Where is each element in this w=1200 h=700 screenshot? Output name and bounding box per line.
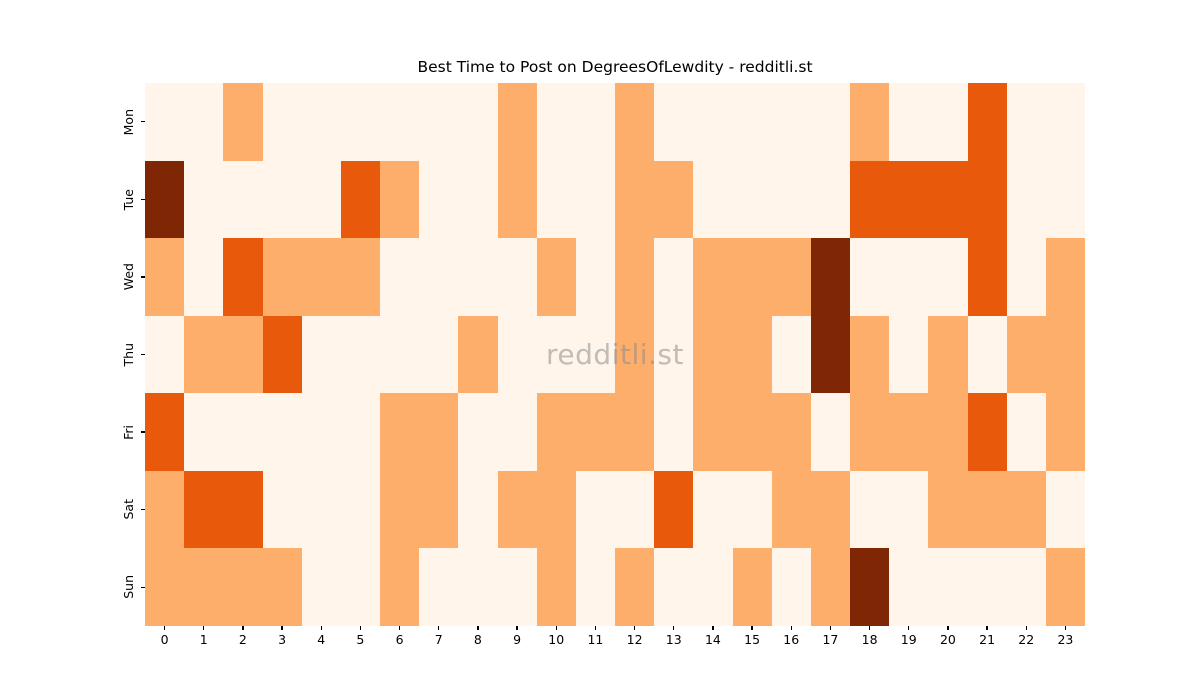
heatmap-cell (458, 83, 497, 161)
heatmap-cell (380, 548, 419, 626)
x-tick-1: 1 (184, 626, 223, 647)
heatmap-cell (458, 471, 497, 549)
heatmap-cell (654, 161, 693, 239)
x-tick-mark (556, 626, 557, 630)
heatmap-cell (733, 471, 772, 549)
heatmap-cell (145, 83, 184, 161)
heatmap-cell (263, 471, 302, 549)
heatmap-cell (223, 238, 262, 316)
heatmap-cell (811, 316, 850, 394)
y-tick-sat: Sat (0, 471, 145, 549)
heatmap-cell (537, 548, 576, 626)
x-tick-14: 14 (693, 626, 732, 647)
heatmap-cell (419, 161, 458, 239)
x-tick-label: 4 (317, 634, 325, 647)
heatmap-cell (850, 393, 889, 471)
heatmap-cell (341, 393, 380, 471)
heatmap-cell (1046, 393, 1085, 471)
heatmap-cell (1046, 238, 1085, 316)
heatmap-cell (145, 393, 184, 471)
heatmap-cell (850, 548, 889, 626)
x-tick-label: 17 (822, 634, 838, 647)
heatmap-cell (498, 548, 537, 626)
heatmap-cell (693, 316, 732, 394)
x-tick-label: 23 (1057, 634, 1073, 647)
heatmap-cell (1046, 548, 1085, 626)
heatmap-cell (576, 548, 615, 626)
x-tick-mark (164, 626, 165, 630)
x-tick-22: 22 (1007, 626, 1046, 647)
heatmap-cell (458, 393, 497, 471)
heatmap-cell (850, 161, 889, 239)
x-tick-10: 10 (537, 626, 576, 647)
x-tick-label: 10 (548, 634, 564, 647)
heatmap-cell (223, 83, 262, 161)
x-tick-mark (477, 626, 478, 630)
heatmap-cell (380, 161, 419, 239)
heatmap-cell (968, 548, 1007, 626)
x-tick-label: 1 (200, 634, 208, 647)
x-tick-17: 17 (811, 626, 850, 647)
x-tick-5: 5 (341, 626, 380, 647)
heatmap-cell (302, 238, 341, 316)
heatmap-cell (615, 548, 654, 626)
x-tick-6: 6 (380, 626, 419, 647)
heatmap-cell (772, 316, 811, 394)
heatmap-cell (850, 238, 889, 316)
heatmap-cell (537, 83, 576, 161)
heatmap-cell (693, 161, 732, 239)
heatmap-cell (968, 238, 1007, 316)
heatmap-cell (1007, 548, 1046, 626)
heatmap-cell (302, 161, 341, 239)
heatmap-cell (458, 161, 497, 239)
heatmap-cell (1007, 393, 1046, 471)
heatmap-cell (928, 83, 967, 161)
heatmap-cell (223, 548, 262, 626)
heatmap-cell (733, 393, 772, 471)
x-tick-mark (1026, 626, 1027, 630)
heatmap-cell (1046, 316, 1085, 394)
heatmap-cell (458, 238, 497, 316)
x-tick-mark (438, 626, 439, 630)
x-tick-label: 7 (435, 634, 443, 647)
x-tick-label: 6 (396, 634, 404, 647)
heatmap-cell (615, 471, 654, 549)
x-tick-label: 11 (587, 634, 603, 647)
x-tick-15: 15 (733, 626, 772, 647)
page-title: Best Time to Post on DegreesOfLewdity - … (145, 58, 1085, 76)
heatmap-cell (341, 161, 380, 239)
heatmap-cell (968, 83, 1007, 161)
x-tick-mark (791, 626, 792, 630)
y-tick-label: Fri (123, 425, 136, 440)
heatmap-cell (498, 316, 537, 394)
heatmap-cell (889, 471, 928, 549)
heatmap-cell (380, 83, 419, 161)
heatmap-cell (145, 161, 184, 239)
heatmap-cell (1046, 83, 1085, 161)
heatmap-cell (380, 316, 419, 394)
heatmap-cell (889, 83, 928, 161)
x-tick-mark (986, 626, 987, 630)
heatmap-cell (576, 238, 615, 316)
heatmap-cell (419, 471, 458, 549)
heatmap-cell (1007, 316, 1046, 394)
x-tick-label: 14 (705, 634, 721, 647)
heatmap-cell (615, 316, 654, 394)
y-tick-fri: Fri (0, 393, 145, 471)
y-tick-label: Sun (123, 575, 136, 599)
heatmap-cell (576, 83, 615, 161)
y-axis: MonTueWedThuFriSatSun (0, 83, 145, 626)
heatmap-cell (184, 393, 223, 471)
heatmap-plot-area: redditli.st (145, 83, 1085, 626)
x-tick-mark (712, 626, 713, 630)
heatmap-cell (615, 161, 654, 239)
heatmap-cell (1007, 471, 1046, 549)
heatmap-cell (419, 83, 458, 161)
heatmap-cell (811, 548, 850, 626)
heatmap-cell (145, 471, 184, 549)
heatmap-grid (145, 83, 1085, 626)
heatmap-cell (772, 548, 811, 626)
x-tick-12: 12 (615, 626, 654, 647)
heatmap-cell (419, 316, 458, 394)
heatmap-cell (302, 393, 341, 471)
x-tick-mark (242, 626, 243, 630)
heatmap-cell (145, 238, 184, 316)
x-tick-21: 21 (968, 626, 1007, 647)
heatmap-cell (968, 161, 1007, 239)
x-tick-mark (908, 626, 909, 630)
heatmap-cell (498, 393, 537, 471)
heatmap-cell (537, 471, 576, 549)
y-tick-label: Thu (123, 343, 136, 366)
heatmap-cell (968, 393, 1007, 471)
x-tick-mark (281, 626, 282, 630)
heatmap-cell (263, 548, 302, 626)
heatmap-cell (223, 161, 262, 239)
y-tick-tue: Tue (0, 161, 145, 239)
heatmap-cell (341, 316, 380, 394)
y-tick-label: Wed (123, 263, 136, 290)
heatmap-cell (184, 548, 223, 626)
y-tick-label: Mon (123, 109, 136, 135)
heatmap-cell (654, 316, 693, 394)
heatmap-cell (380, 393, 419, 471)
heatmap-cell (654, 548, 693, 626)
heatmap-cell (928, 393, 967, 471)
heatmap-cell (693, 393, 732, 471)
heatmap-cell (654, 238, 693, 316)
heatmap-cell (693, 83, 732, 161)
heatmap-cell (1046, 471, 1085, 549)
heatmap-cell (772, 83, 811, 161)
heatmap-cell (341, 548, 380, 626)
heatmap-cell (615, 238, 654, 316)
x-tick-mark (399, 626, 400, 630)
x-tick-label: 3 (278, 634, 286, 647)
x-tick-13: 13 (654, 626, 693, 647)
heatmap-cell (1007, 83, 1046, 161)
heatmap-cell (850, 83, 889, 161)
heatmap-cell (811, 238, 850, 316)
x-tick-mark (203, 626, 204, 630)
x-tick-20: 20 (928, 626, 967, 647)
heatmap-cell (733, 238, 772, 316)
heatmap-cell (537, 238, 576, 316)
x-tick-label: 18 (862, 634, 878, 647)
heatmap-cell (968, 471, 1007, 549)
heatmap-cell (184, 238, 223, 316)
heatmap-cell (498, 83, 537, 161)
x-tick-8: 8 (458, 626, 497, 647)
heatmap-cell (928, 238, 967, 316)
heatmap-cell (263, 238, 302, 316)
x-tick-2: 2 (223, 626, 262, 647)
x-tick-mark (634, 626, 635, 630)
heatmap-cell (458, 548, 497, 626)
heatmap-cell (184, 83, 223, 161)
x-tick-mark (516, 626, 517, 630)
heatmap-cell (772, 238, 811, 316)
heatmap-cell (811, 83, 850, 161)
heatmap-cell (733, 83, 772, 161)
x-axis: 01234567891011121314151617181920212223 (145, 626, 1085, 666)
heatmap-cell (341, 471, 380, 549)
heatmap-cell (341, 83, 380, 161)
heatmap-cell (184, 316, 223, 394)
heatmap-cell (772, 471, 811, 549)
heatmap-cell (928, 471, 967, 549)
heatmap-cell (850, 316, 889, 394)
heatmap-cell (654, 471, 693, 549)
x-tick-mark (869, 626, 870, 630)
heatmap-cell (576, 316, 615, 394)
x-tick-mark (1065, 626, 1066, 630)
heatmap-cell (419, 238, 458, 316)
heatmap-cell (889, 238, 928, 316)
heatmap-cell (615, 83, 654, 161)
heatmap-cell (693, 548, 732, 626)
heatmap-cell (223, 471, 262, 549)
x-tick-19: 19 (889, 626, 928, 647)
heatmap-cell (889, 548, 928, 626)
x-tick-label: 2 (239, 634, 247, 647)
x-tick-4: 4 (302, 626, 341, 647)
x-tick-label: 8 (474, 634, 482, 647)
x-tick-mark (830, 626, 831, 630)
y-tick-sun: Sun (0, 548, 145, 626)
heatmap-cell (889, 393, 928, 471)
x-tick-label: 21 (979, 634, 995, 647)
x-tick-mark (321, 626, 322, 630)
heatmap-cell (968, 316, 1007, 394)
heatmap-cell (302, 316, 341, 394)
heatmap-cell (889, 316, 928, 394)
x-tick-mark (751, 626, 752, 630)
x-tick-label: 9 (513, 634, 521, 647)
heatmap-cell (380, 238, 419, 316)
heatmap-cell (184, 161, 223, 239)
heatmap-cell (341, 238, 380, 316)
heatmap-cell (537, 316, 576, 394)
x-tick-label: 22 (1018, 634, 1034, 647)
heatmap-cell (419, 393, 458, 471)
heatmap-cell (1007, 238, 1046, 316)
heatmap-cell (928, 548, 967, 626)
x-tick-label: 15 (744, 634, 760, 647)
heatmap-cell (811, 161, 850, 239)
heatmap-cell (772, 393, 811, 471)
x-tick-label: 16 (783, 634, 799, 647)
heatmap-cell (263, 316, 302, 394)
heatmap-cell (850, 471, 889, 549)
heatmap-cell (263, 161, 302, 239)
heatmap-cell (811, 471, 850, 549)
heatmap-cell (615, 393, 654, 471)
y-tick-thu: Thu (0, 316, 145, 394)
x-tick-16: 16 (772, 626, 811, 647)
heatmap-cell (928, 161, 967, 239)
x-tick-9: 9 (498, 626, 537, 647)
x-tick-mark (673, 626, 674, 630)
heatmap-cell (458, 316, 497, 394)
y-tick-label: Sat (123, 499, 136, 520)
x-tick-mark (595, 626, 596, 630)
heatmap-cell (419, 548, 458, 626)
heatmap-cell (302, 548, 341, 626)
heatmap-figure: Best Time to Post on DegreesOfLewdity - … (0, 0, 1200, 700)
x-tick-11: 11 (576, 626, 615, 647)
heatmap-cell (1007, 161, 1046, 239)
x-tick-3: 3 (263, 626, 302, 647)
y-tick-label: Tue (123, 189, 136, 210)
heatmap-cell (145, 548, 184, 626)
heatmap-cell (302, 471, 341, 549)
heatmap-cell (928, 316, 967, 394)
x-tick-23: 23 (1046, 626, 1085, 647)
heatmap-cell (263, 83, 302, 161)
x-tick-label: 13 (666, 634, 682, 647)
x-tick-label: 0 (161, 634, 169, 647)
x-tick-label: 12 (627, 634, 643, 647)
x-tick-label: 5 (356, 634, 364, 647)
x-tick-mark (947, 626, 948, 630)
heatmap-cell (302, 83, 341, 161)
heatmap-cell (263, 393, 302, 471)
heatmap-cell (537, 393, 576, 471)
heatmap-cell (184, 471, 223, 549)
x-tick-18: 18 (850, 626, 889, 647)
heatmap-cell (498, 161, 537, 239)
y-tick-wed: Wed (0, 238, 145, 316)
x-tick-mark (360, 626, 361, 630)
heatmap-cell (654, 393, 693, 471)
heatmap-cell (733, 316, 772, 394)
heatmap-cell (223, 393, 262, 471)
heatmap-cell (654, 83, 693, 161)
heatmap-cell (537, 161, 576, 239)
heatmap-cell (145, 316, 184, 394)
heatmap-cell (889, 161, 928, 239)
y-tick-mon: Mon (0, 83, 145, 161)
x-tick-0: 0 (145, 626, 184, 647)
heatmap-cell (498, 471, 537, 549)
x-tick-label: 19 (901, 634, 917, 647)
x-tick-7: 7 (419, 626, 458, 647)
heatmap-cell (733, 548, 772, 626)
heatmap-cell (223, 316, 262, 394)
x-tick-label: 20 (940, 634, 956, 647)
heatmap-cell (693, 471, 732, 549)
heatmap-cell (498, 238, 537, 316)
heatmap-cell (576, 393, 615, 471)
heatmap-cell (693, 238, 732, 316)
heatmap-cell (380, 471, 419, 549)
heatmap-cell (576, 471, 615, 549)
heatmap-cell (772, 161, 811, 239)
heatmap-cell (576, 161, 615, 239)
heatmap-cell (1046, 161, 1085, 239)
heatmap-cell (811, 393, 850, 471)
heatmap-cell (733, 161, 772, 239)
